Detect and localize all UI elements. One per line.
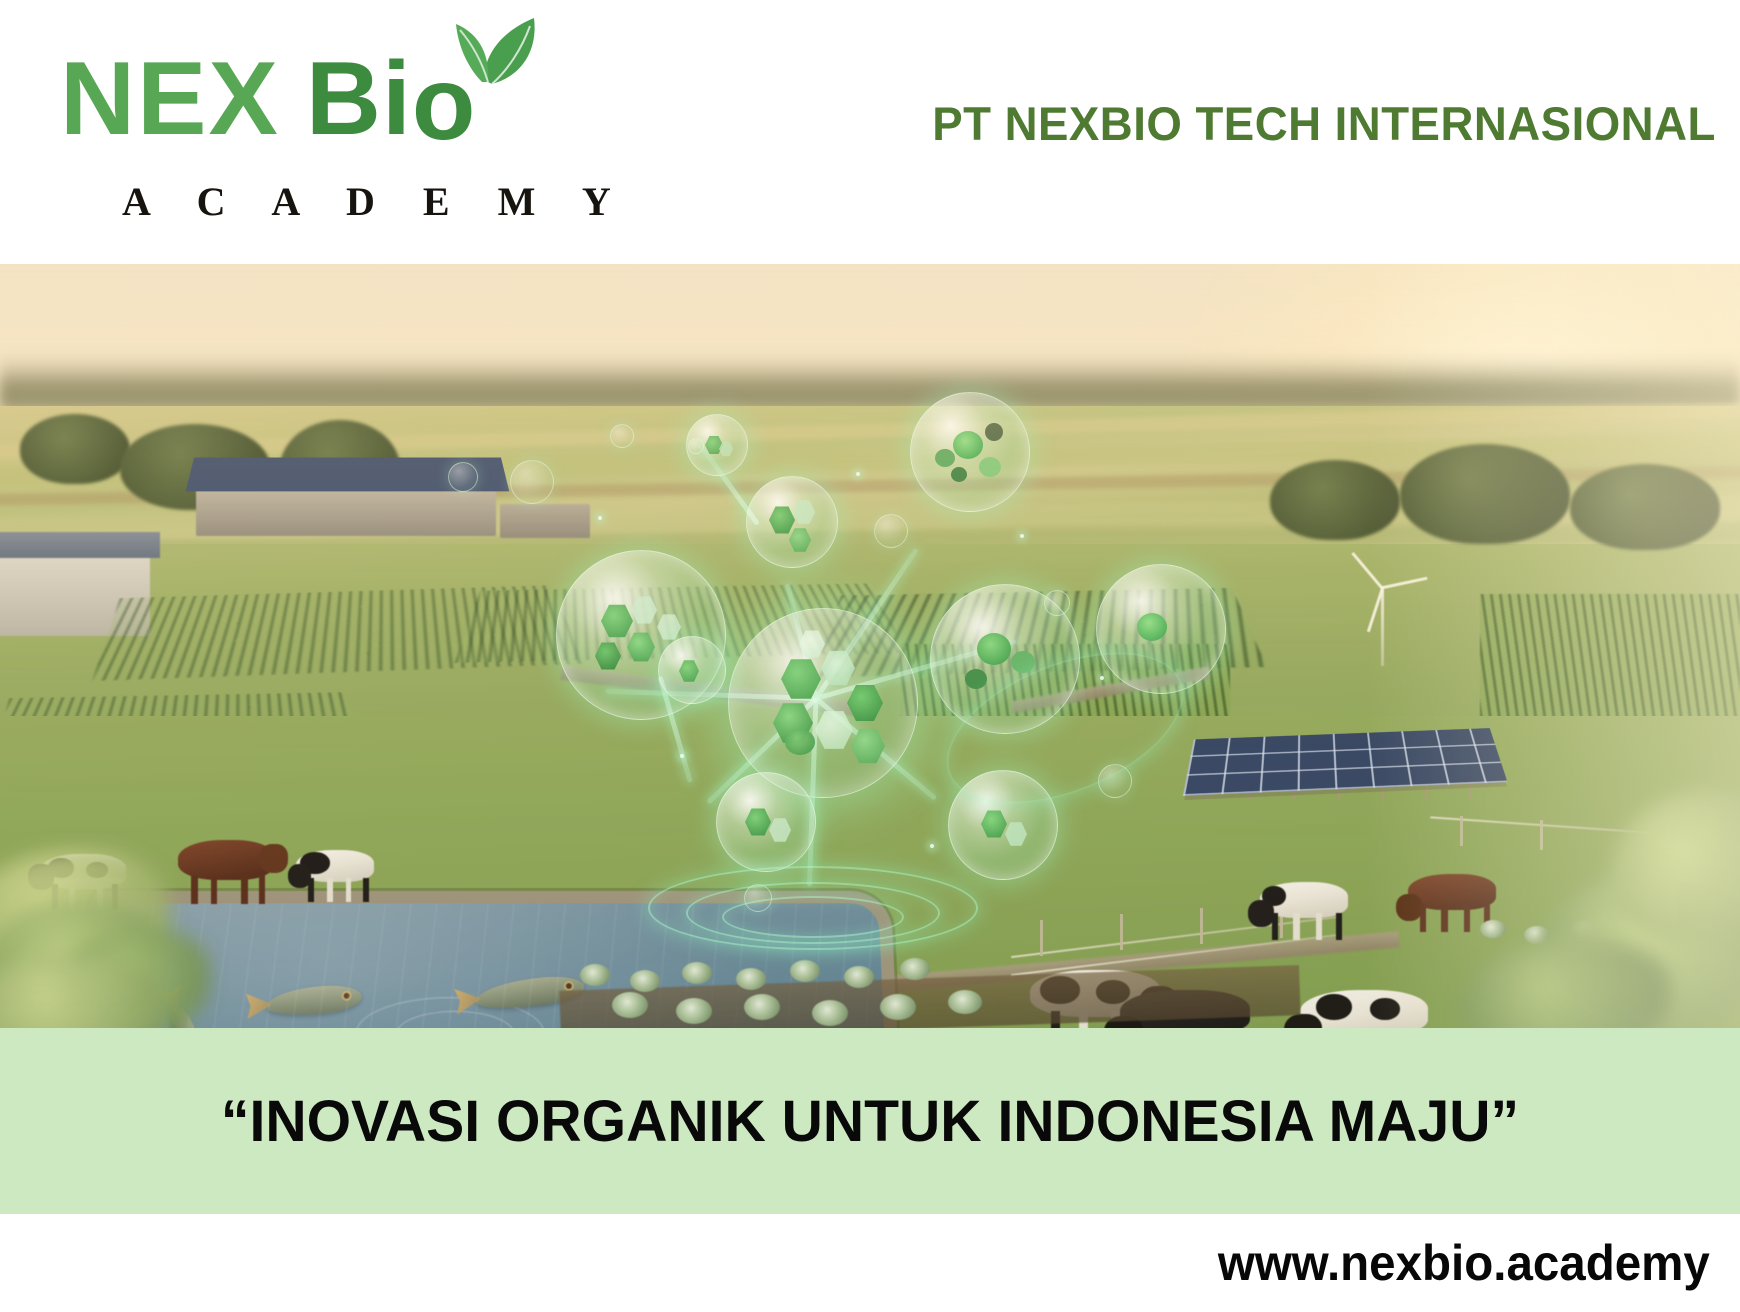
fish <box>266 983 363 1019</box>
foreground-leaf <box>0 954 160 1028</box>
floating-bubble <box>874 514 908 548</box>
sparkle <box>598 516 602 520</box>
floating-bubble <box>610 424 634 448</box>
molecule-node <box>746 476 838 568</box>
cow-leg <box>308 878 313 902</box>
slide-header: NEX Bi o A C A D E M Y PT NEXBIO TECH IN… <box>0 0 1740 264</box>
molecule-hex-cell <box>627 631 655 663</box>
molecule-hex-cell <box>1005 821 1027 847</box>
cow-leg <box>211 875 218 904</box>
logo-o-with-leaf: o <box>412 52 510 164</box>
molecule-blob <box>1011 651 1035 673</box>
molecule-hologram <box>500 284 1140 984</box>
molecule-node <box>716 772 816 872</box>
wind-turbine <box>1348 564 1418 664</box>
cow-leg <box>191 875 198 904</box>
cabbage <box>1480 920 1506 938</box>
molecule-hex-cell <box>847 683 883 723</box>
molecule-blob <box>977 633 1011 665</box>
cow-leg <box>1464 905 1470 932</box>
barn <box>196 490 496 536</box>
slide-footer: www.nexbio.academy <box>0 1214 1740 1312</box>
cabbage <box>948 990 982 1014</box>
cabbage <box>676 998 712 1024</box>
hero-image <box>0 264 1740 1028</box>
molecule-hex-cell <box>815 709 853 751</box>
tree <box>20 414 130 484</box>
molecule-node <box>658 636 726 704</box>
brand-logo[interactable]: NEX Bi o A C A D E M Y <box>60 52 660 232</box>
fence-post <box>1200 908 1203 944</box>
cow-leg <box>259 875 266 904</box>
molecule-hex-cell <box>793 499 815 525</box>
cow-leg <box>1420 905 1426 932</box>
cow-head <box>1396 894 1422 921</box>
molecule-blob <box>985 423 1003 441</box>
molecule-hex-cell <box>705 435 723 455</box>
molecule-blob <box>979 457 1001 477</box>
sparkle <box>930 844 934 848</box>
molecule-hex-cell <box>851 727 885 765</box>
logo-text-bi: Bi <box>306 52 412 148</box>
cow-leg <box>1293 913 1299 940</box>
water-ripple <box>355 997 545 1028</box>
cow-head <box>259 844 288 873</box>
molecule-blob <box>953 431 983 459</box>
cow-leg <box>346 878 351 902</box>
shed-roof <box>0 532 160 558</box>
cow-patch <box>1370 998 1400 1020</box>
tree <box>1270 460 1400 540</box>
company-name: PT NEXBIO TECH INTERNASIONAL <box>932 96 1716 151</box>
water-ripple <box>395 1010 515 1028</box>
molecule-blob <box>785 729 815 755</box>
cow-leg <box>1272 913 1278 940</box>
cow-leg <box>1316 913 1322 940</box>
cabbage <box>744 994 780 1020</box>
floating-bubble <box>1044 590 1070 616</box>
molecule-blob <box>951 467 967 482</box>
cow <box>1300 990 1428 1028</box>
molecule-hex-cell <box>745 807 771 837</box>
cow-leg <box>363 878 368 902</box>
cabbage <box>812 1000 848 1026</box>
holographic-ring <box>722 896 904 938</box>
molecule-hex-cell <box>769 505 795 535</box>
molecule-hex-cell <box>657 613 681 641</box>
molecule-hex-cell <box>601 603 633 639</box>
website-url[interactable]: www.nexbio.academy <box>1218 1234 1710 1292</box>
molecule-hex-cell <box>679 659 699 683</box>
sparkle <box>680 754 684 758</box>
floating-bubble <box>448 462 478 492</box>
slide-root: NEX Bi o A C A D E M Y PT NEXBIO TECH IN… <box>0 0 1740 1312</box>
cabbage <box>880 994 916 1020</box>
fence-post <box>1540 820 1543 850</box>
floating-bubble <box>688 438 704 454</box>
molecule-hex-cell <box>789 527 811 553</box>
floating-bubble <box>510 460 554 504</box>
tagline-band: “INOVASI ORGANIK UNTUK INDONESIA MAJU” <box>0 1028 1740 1214</box>
cow <box>1260 882 1348 940</box>
fence-post <box>1460 816 1463 846</box>
cow-leg <box>1336 913 1342 940</box>
cow-head <box>1248 900 1274 927</box>
cow-leg <box>1441 905 1447 932</box>
molecule-blob <box>935 449 955 467</box>
turbine-mast <box>1381 586 1384 666</box>
cabbage <box>612 992 648 1018</box>
molecule-hex-cell <box>781 657 821 701</box>
cow-leg <box>327 878 332 902</box>
tagline-text: “INOVASI ORGANIK UNTUK INDONESIA MAJU” <box>221 1088 1519 1155</box>
sparkle <box>1020 534 1024 538</box>
molecule-hex-cell <box>631 595 657 625</box>
molecule-hex-cell <box>799 629 825 659</box>
molecule-core-sphere <box>728 608 918 798</box>
sparkle <box>856 472 860 476</box>
molecule-hex-cell <box>981 809 1007 839</box>
molecule-hex-cell <box>821 649 855 687</box>
molecule-blob <box>965 669 987 689</box>
cow-leg <box>241 875 248 904</box>
cow <box>296 850 374 902</box>
hero-scene <box>0 264 1740 1028</box>
logo-wordmark: NEX Bi o <box>60 52 660 164</box>
molecule-blob <box>1137 613 1167 641</box>
tree <box>1570 464 1720 550</box>
tree <box>1400 444 1570 544</box>
cow <box>178 840 274 904</box>
molecule-node <box>910 392 1030 512</box>
logo-subtitle-academy: A C A D E M Y <box>122 178 660 225</box>
molecule-hex-cell <box>769 817 791 843</box>
logo-text-nex: NEX <box>60 52 280 148</box>
cow-patch <box>1316 994 1352 1020</box>
leaf-icon <box>422 6 542 98</box>
molecule-hex-cell <box>595 641 621 671</box>
